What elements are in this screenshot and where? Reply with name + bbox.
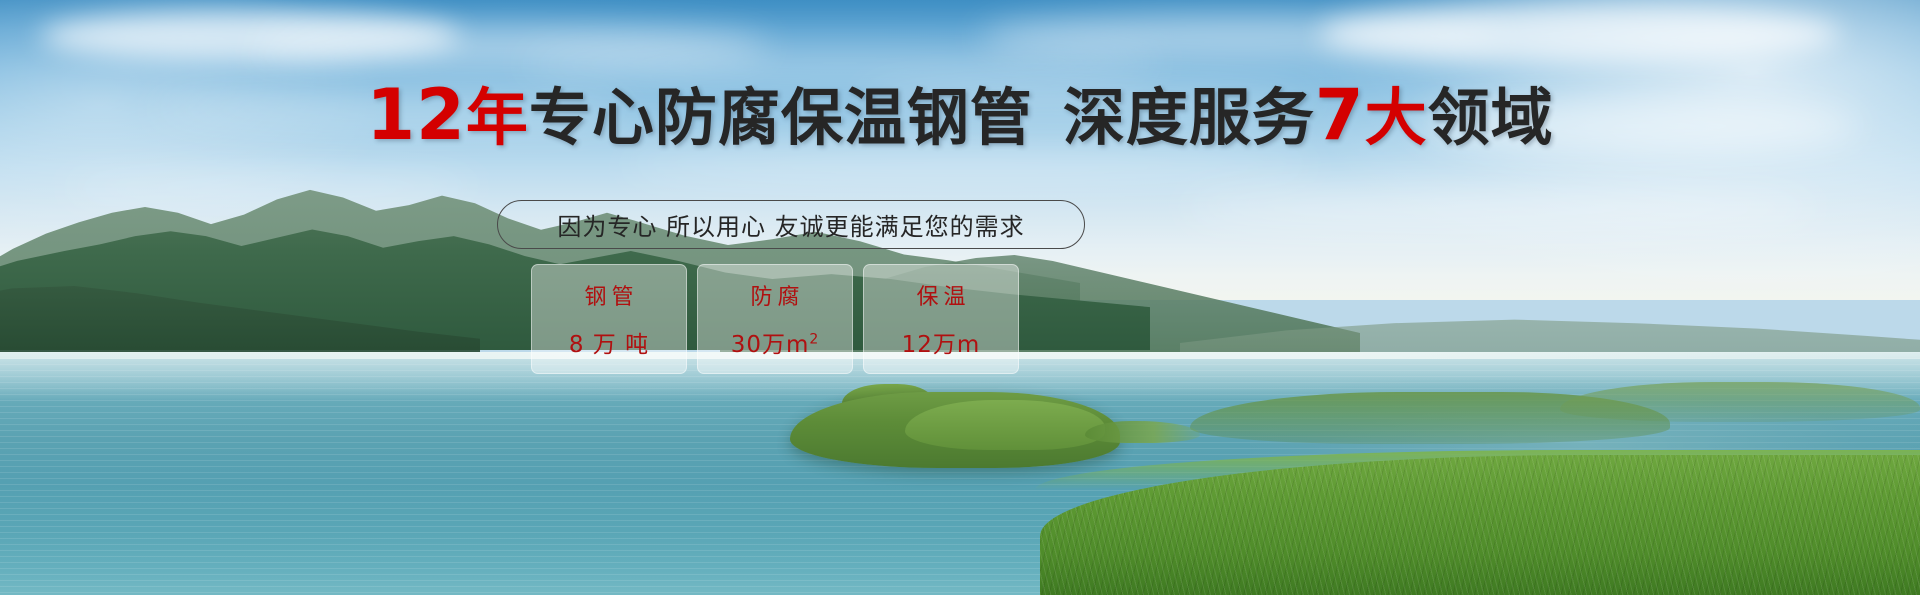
headline-fields-number: 7: [1315, 74, 1365, 156]
subtitle-pill-text: 因为专心 所以用心 友诚更能满足您的需求: [557, 207, 1024, 242]
stat-card-value-text: 8 万 吨: [569, 332, 649, 358]
cloud-shape: [620, 152, 1320, 182]
cloud-shape: [1180, 186, 1820, 232]
headline-main-black-1: 专心防腐保温钢管: [529, 81, 1033, 154]
stat-card-label: 防腐: [745, 279, 804, 311]
subtitle-pill: 因为专心 所以用心 友诚更能满足您的需求: [497, 200, 1085, 249]
cloud-shape: [60, 176, 480, 202]
stat-card-anticorrosion: 防腐 30万m2: [697, 264, 853, 374]
stat-card-value: 30万m2: [731, 325, 820, 359]
stat-card-value: 12万m: [902, 325, 981, 359]
stat-card-value-sup: 2: [809, 331, 819, 347]
banner-headline: 12年专心防腐保温钢管深度服务7大领域: [0, 84, 1920, 149]
headline-fields-black: 领域: [1428, 81, 1554, 154]
headline-main-black-2: 深度服务: [1063, 81, 1315, 154]
stat-card-label: 钢管: [579, 279, 638, 311]
stat-card-value-text: 12万m: [902, 332, 981, 358]
stat-card-insulation: 保温 12万m: [863, 264, 1019, 374]
stat-card-label: 保温: [911, 279, 970, 311]
cloud-shape: [1320, 4, 1840, 64]
hero-banner: 12年专心防腐保温钢管深度服务7大领域 因为专心 所以用心 友诚更能满足您的需求…: [0, 0, 1920, 595]
headline-fields-red-unit: 大: [1365, 81, 1428, 154]
marsh-area-far: [1560, 382, 1920, 422]
headline-years-number: 12: [366, 74, 465, 156]
stat-card-steel-pipe: 钢管 8 万 吨: [531, 264, 687, 374]
stat-cards-group: 钢管 8 万 吨 防腐 30万m2 保温 12万m: [531, 264, 1019, 374]
grass-island-inner: [905, 400, 1105, 450]
stat-card-value: 8 万 吨: [569, 325, 649, 359]
stat-card-value-text: 30万m: [731, 332, 810, 358]
headline-years-unit: 年: [466, 81, 529, 154]
